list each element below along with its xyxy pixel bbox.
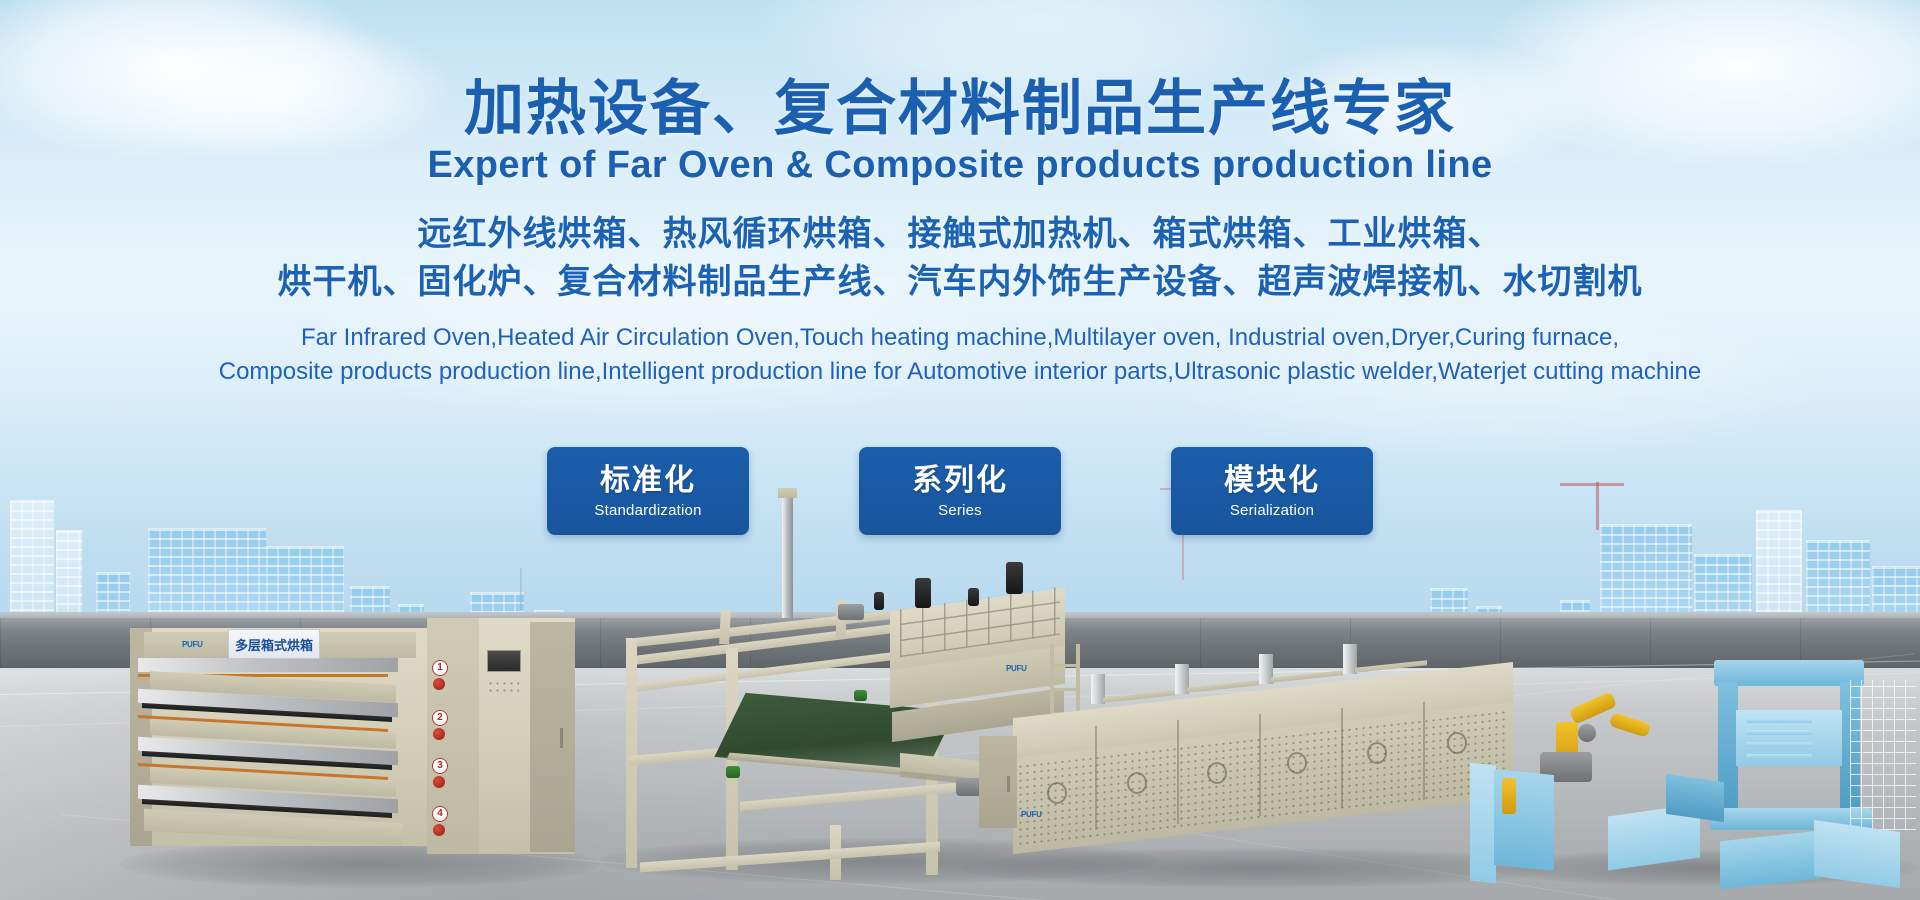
- press-column: [626, 638, 637, 868]
- headline-english: Expert of Far Oven & Composite products …: [0, 144, 1920, 188]
- badge-label-en: Standardization: [594, 502, 701, 519]
- robot-side-cabinet: [1814, 820, 1900, 888]
- badge-serialization[interactable]: 模块化 Serialization: [1171, 447, 1373, 535]
- robot-step: [1746, 742, 1812, 747]
- oven-cabinet-door: [530, 622, 575, 852]
- oven-vent: [487, 680, 519, 694]
- robot-joint: [1578, 724, 1596, 742]
- press-frame-strut: [719, 610, 731, 644]
- press-mast: [782, 494, 793, 618]
- robot-step: [1746, 754, 1812, 759]
- oven-dial-2[interactable]: [433, 728, 445, 740]
- tunnel-logo: PUFU: [1021, 810, 1042, 819]
- badge-standardization[interactable]: 标准化 Standardization: [547, 447, 749, 535]
- oven-dial-4[interactable]: [433, 824, 445, 836]
- tunnel-control-box: [979, 736, 1017, 828]
- tunnel-segment-divider: [1423, 702, 1425, 800]
- press-ladder-step: [1050, 664, 1080, 667]
- oven-dial-label: 3: [432, 758, 448, 774]
- press-roller-bearing: [726, 766, 740, 778]
- press-drive-motor: [838, 604, 864, 620]
- product-list-cn-line-2: 烘干机、固化炉、复合材料制品生产线、汽车内外饰生产设备、超声波焊接机、水切割机: [0, 258, 1920, 306]
- oven-dial-label: 1: [432, 660, 448, 676]
- badge-label-en: Series: [938, 502, 982, 519]
- tunnel-segment-divider: [1341, 708, 1343, 808]
- press-cylinder: [1006, 562, 1023, 594]
- press-cylinder: [915, 578, 931, 608]
- tunnel-segment-divider: [1095, 726, 1097, 830]
- tunnel-porthole: [1207, 762, 1227, 784]
- banner-text-block: 加热设备、复合材料制品生产线专家 Expert of Far Oven & Co…: [0, 0, 1920, 389]
- robot-outfeed-table: [1720, 831, 1820, 890]
- oven-logo: PUFU: [182, 640, 203, 649]
- product-list-english: Far Infrared Oven,Heated Air Circulation…: [0, 321, 1920, 389]
- machine-tunnel-oven: PUFU: [985, 690, 1515, 870]
- robot-step: [1746, 718, 1812, 723]
- tunnel-porthole: [1127, 772, 1147, 794]
- tunnel-porthole: [1367, 742, 1387, 764]
- product-list-cn-line-1: 远红外线烘箱、热风循环烘箱、接触式加热机、箱式烘箱、工业烘箱、: [0, 210, 1920, 258]
- feature-badge-row: 标准化 Standardization 系列化 Series 模块化 Seria…: [0, 447, 1920, 535]
- tunnel-porthole: [1047, 782, 1067, 804]
- headline-chinese: 加热设备、复合材料制品生产线专家: [0, 78, 1920, 140]
- oven-dial-label: 2: [432, 710, 448, 726]
- robot-feeder: [1666, 774, 1724, 822]
- oven-dial-1[interactable]: [433, 678, 445, 690]
- badge-label-en: Serialization: [1230, 502, 1314, 519]
- tunnel-porthole: [1447, 732, 1467, 754]
- banner-stage: 加热设备、复合材料制品生产线专家 Expert of Far Oven & Co…: [0, 0, 1920, 900]
- oven-tray: [138, 658, 398, 672]
- robot-arm-fore: [1609, 712, 1651, 738]
- tunnel-porthole: [1287, 752, 1307, 774]
- machine-robotic-cell: [1470, 660, 1920, 900]
- oven-dial-label: 4: [432, 806, 448, 822]
- badge-label-cn: 模块化: [1224, 464, 1320, 497]
- press-cylinder: [968, 588, 979, 606]
- robot-guard-post: [1502, 778, 1516, 814]
- press-mast-cap: [778, 488, 797, 498]
- product-list-en-line-2: Composite products production line,Intel…: [0, 355, 1920, 389]
- robot-safety-fence: [1850, 680, 1916, 830]
- tunnel-box-handle[interactable]: [1007, 776, 1010, 792]
- press-cylinder: [874, 592, 884, 610]
- tunnel-segment-divider: [1259, 714, 1261, 816]
- oven-dial-3[interactable]: [433, 776, 445, 788]
- press-logo: PUFU: [1006, 664, 1027, 673]
- oven-door-handle[interactable]: [560, 728, 563, 748]
- badge-series[interactable]: 系列化 Series: [859, 447, 1061, 535]
- oven-hmi-screen[interactable]: [487, 650, 521, 672]
- robot-step: [1746, 730, 1812, 735]
- badge-label-cn: 系列化: [912, 464, 1008, 497]
- badge-label-cn: 标准化: [600, 464, 696, 497]
- press-roller-bearing: [854, 690, 867, 701]
- robot-transfer-box: [1470, 763, 1496, 884]
- tunnel-segment-divider: [1177, 720, 1179, 824]
- product-list-en-line-1: Far Infrared Oven,Heated Air Circulation…: [0, 321, 1920, 355]
- oven-name-plate: 多层箱式烘箱: [228, 629, 320, 659]
- press-base-rail: [640, 842, 940, 873]
- product-list-chinese: 远红外线烘箱、热风循环烘箱、接触式加热机、箱式烘箱、工业烘箱、 烘干机、固化炉、…: [0, 210, 1920, 307]
- machine-multilayer-oven: 多层箱式烘箱 PUFU 1 2 3 4: [130, 618, 560, 868]
